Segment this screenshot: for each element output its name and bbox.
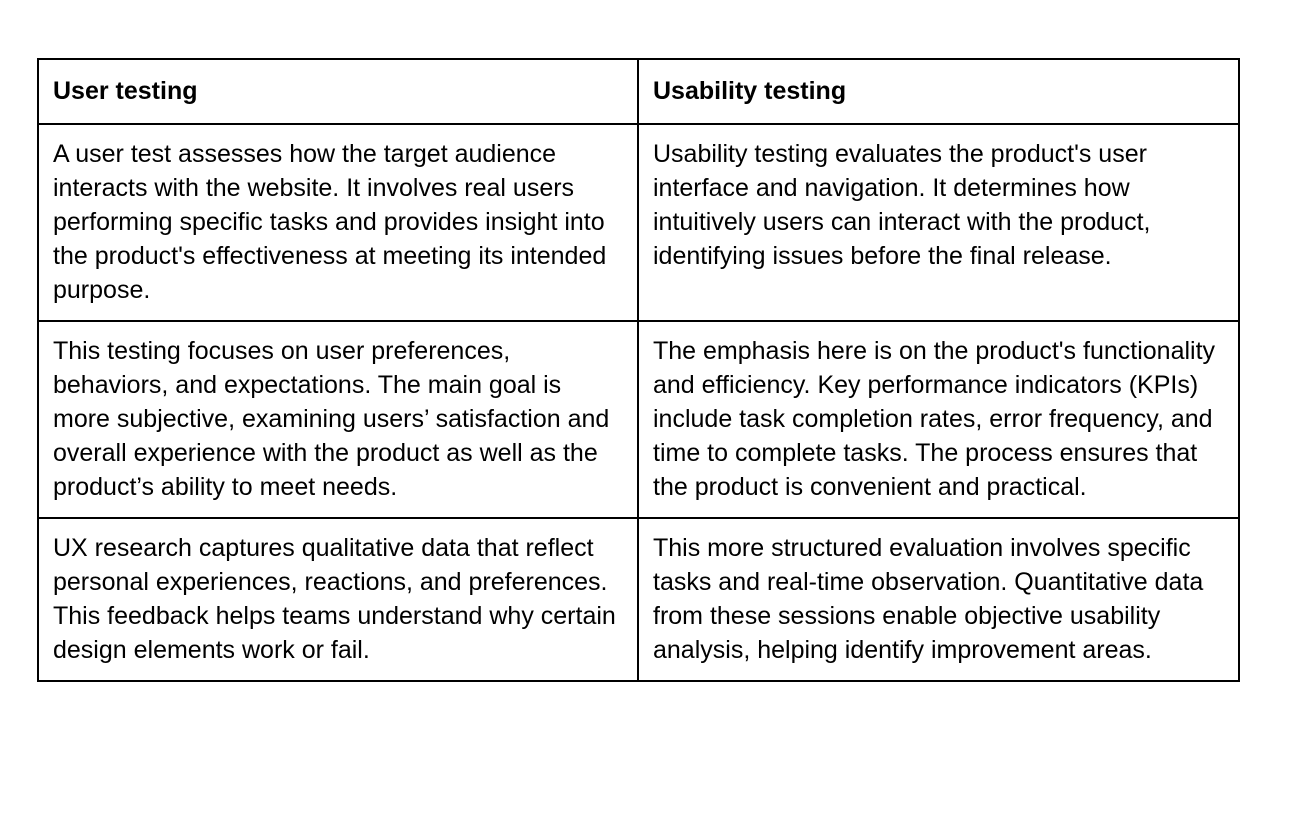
- column-header-user-testing: User testing: [38, 59, 638, 124]
- table-row: A user test assesses how the target audi…: [38, 124, 1239, 321]
- cell-usability-testing-3: This more structured evaluation involves…: [638, 518, 1239, 681]
- comparison-table: User testing Usability testing A user te…: [37, 58, 1240, 682]
- cell-user-testing-1: A user test assesses how the target audi…: [38, 124, 638, 321]
- cell-usability-testing-2: The emphasis here is on the product's fu…: [638, 321, 1239, 518]
- table-header-row: User testing Usability testing: [38, 59, 1239, 124]
- table-row: This testing focuses on user preferences…: [38, 321, 1239, 518]
- cell-user-testing-3: UX research captures qualitative data th…: [38, 518, 638, 681]
- column-header-usability-testing: Usability testing: [638, 59, 1239, 124]
- cell-usability-testing-1: Usability testing evaluates the product'…: [638, 124, 1239, 321]
- table-header: User testing Usability testing: [38, 59, 1239, 124]
- page-container: User testing Usability testing A user te…: [0, 0, 1298, 838]
- table-body: A user test assesses how the target audi…: [38, 124, 1239, 681]
- cell-user-testing-2: This testing focuses on user preferences…: [38, 321, 638, 518]
- table-row: UX research captures qualitative data th…: [38, 518, 1239, 681]
